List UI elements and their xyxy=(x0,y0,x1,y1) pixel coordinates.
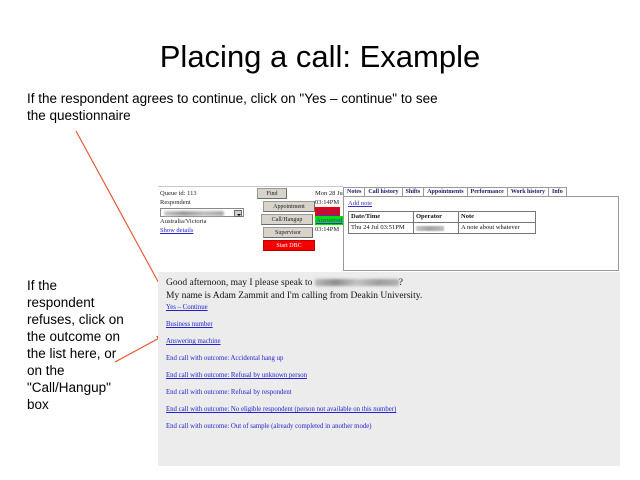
appointment-button[interactable]: Appointment xyxy=(263,201,315,212)
divider xyxy=(158,186,343,187)
callout-text-left: If the respondent refuses, click on the … xyxy=(27,277,127,413)
script-line1-prefix: Good afternoon, may I please speak to xyxy=(166,278,315,288)
table-header-row: Date/Time Operator Note xyxy=(349,212,536,223)
outcome-link-yes-continue[interactable]: Yes – Continue xyxy=(166,304,606,312)
cell-operator xyxy=(414,223,459,234)
respondent-select[interactable] xyxy=(160,208,244,217)
call-hangup-button[interactable]: Call/Hangup xyxy=(261,214,313,225)
find-button[interactable]: Find xyxy=(257,188,287,199)
call-script-text: Good afternoon, may I please speak to ? … xyxy=(166,277,422,302)
notes-tab-body: Add note Date/Time Operator Note Thu 24 … xyxy=(343,196,619,271)
record-tab-panel: Notes Call history Shifts Appointments P… xyxy=(343,187,619,271)
script-line1-suffix: ? xyxy=(399,278,403,288)
call-outcome-list: Yes – Continue Business number Answering… xyxy=(166,304,606,440)
notes-table: Date/Time Operator Note Thu 24 Jul 03:51… xyxy=(348,211,536,234)
arrow-to-script xyxy=(76,131,167,298)
timezone-label: Australia/Victoria xyxy=(160,218,256,227)
queue-id-label: Queue id: 113 xyxy=(160,190,256,199)
redacted-operator-name xyxy=(416,226,444,231)
app-top-bar: Queue id: 113 Respondent Australia/Victo… xyxy=(155,186,620,272)
embedded-application-screenshot: Queue id: 113 Respondent Australia/Victo… xyxy=(155,186,620,466)
redacted-respondent-name-inline xyxy=(315,279,399,286)
outcome-link-out-of-sample[interactable]: End call with outcome: Out of sample (al… xyxy=(166,423,606,431)
cell-note: A note about whatever xyxy=(459,223,536,234)
table-row[interactable]: Thu 24 Jul 03:51PM A note about whatever xyxy=(349,223,536,234)
callout-text-top: If the respondent agrees to continue, cl… xyxy=(27,90,457,124)
call-script-area: Good afternoon, may I please speak to ? … xyxy=(158,272,620,466)
call-info-panel: Queue id: 113 Respondent Australia/Victo… xyxy=(160,190,256,235)
start-dbc-button[interactable]: Start DBC xyxy=(263,240,315,251)
show-details-link[interactable]: Show details xyxy=(160,227,256,236)
redacted-respondent-name xyxy=(164,211,224,216)
respondent-label: Respondent xyxy=(160,199,256,208)
answered-status-badge[interactable]: Answered xyxy=(315,216,343,225)
chevron-down-icon[interactable] xyxy=(234,210,242,217)
script-line2: My name is Adam Zammit and I'm calling f… xyxy=(166,291,422,301)
column-header-datetime: Date/Time xyxy=(349,212,414,223)
outcome-link-no-eligible-respondent[interactable]: End call with outcome: No eligible respo… xyxy=(166,406,606,414)
outcome-link-business-number[interactable]: Business number xyxy=(166,321,606,329)
supervisor-button[interactable]: Supervisor xyxy=(263,227,313,238)
outcome-link-answering-machine[interactable]: Answering machine xyxy=(166,338,606,346)
outcome-link-accidental-hang-up[interactable]: End call with outcome: Accidental hang u… xyxy=(166,355,606,363)
cell-datetime: Thu 24 Jul 03:51PM xyxy=(349,223,414,234)
add-note-link[interactable]: Add note xyxy=(348,200,372,208)
voip-status-badge[interactable]: VoIP Off xyxy=(315,207,340,216)
call-control-buttons: Find Appointment Call/Hangup Supervisor … xyxy=(257,188,317,253)
outcome-link-refusal-unknown-person[interactable]: End call with outcome: Refusal by unknow… xyxy=(166,372,606,380)
page-title: Placing a call: Example xyxy=(0,38,640,76)
outcome-link-refusal-by-respondent[interactable]: End call with outcome: Refusal by respon… xyxy=(166,389,606,397)
column-header-operator: Operator xyxy=(414,212,459,223)
column-header-note: Note xyxy=(459,212,536,223)
